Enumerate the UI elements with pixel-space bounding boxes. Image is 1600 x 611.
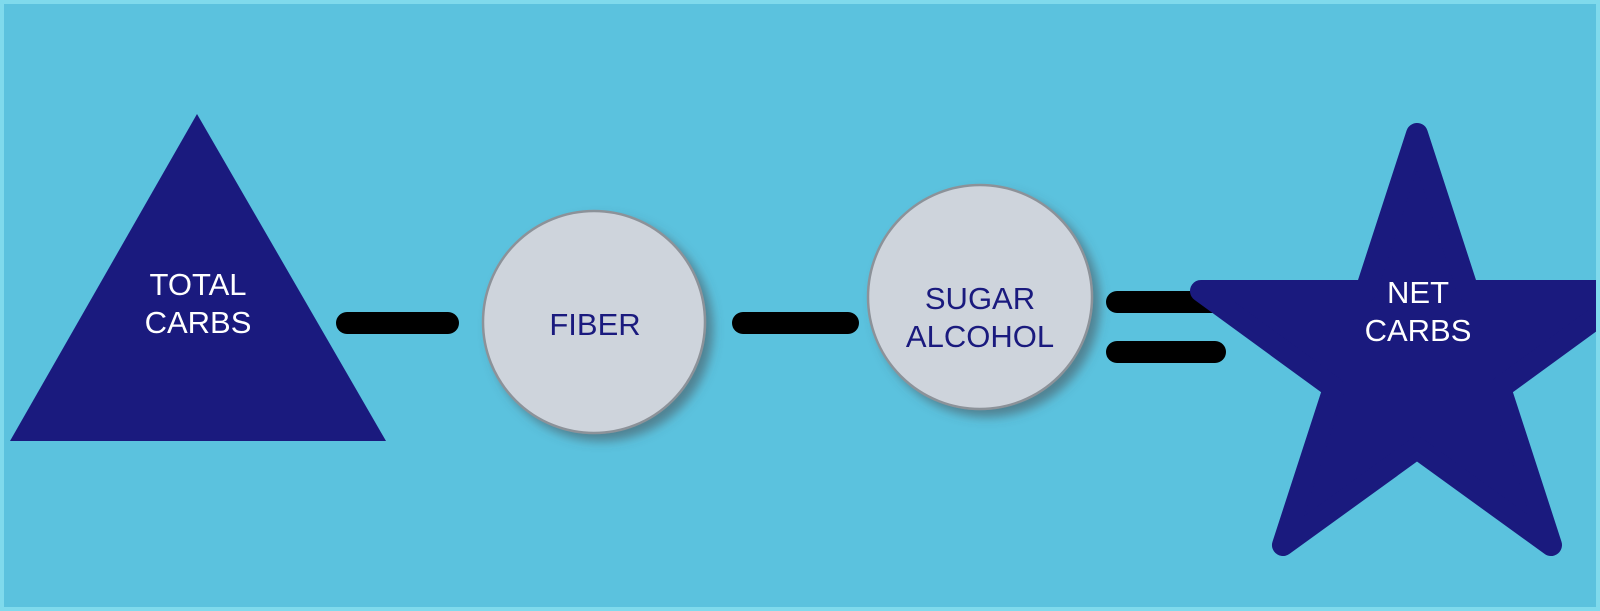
equals-operator-bottom-bar [1106, 341, 1226, 363]
fiber-circle[interactable] [483, 211, 705, 433]
total-carbs-triangle[interactable] [10, 114, 386, 441]
diagram-canvas: TOTAL CARBS FIBER SUGAR ALCOHOL NET CARB… [0, 0, 1600, 611]
diagram-shapes [4, 4, 1600, 611]
minus-operator-1 [336, 312, 459, 334]
minus-operator-2 [732, 312, 859, 334]
net-carbs-star[interactable] [1201, 134, 1600, 545]
sugar-alcohol-circle[interactable] [868, 185, 1092, 409]
